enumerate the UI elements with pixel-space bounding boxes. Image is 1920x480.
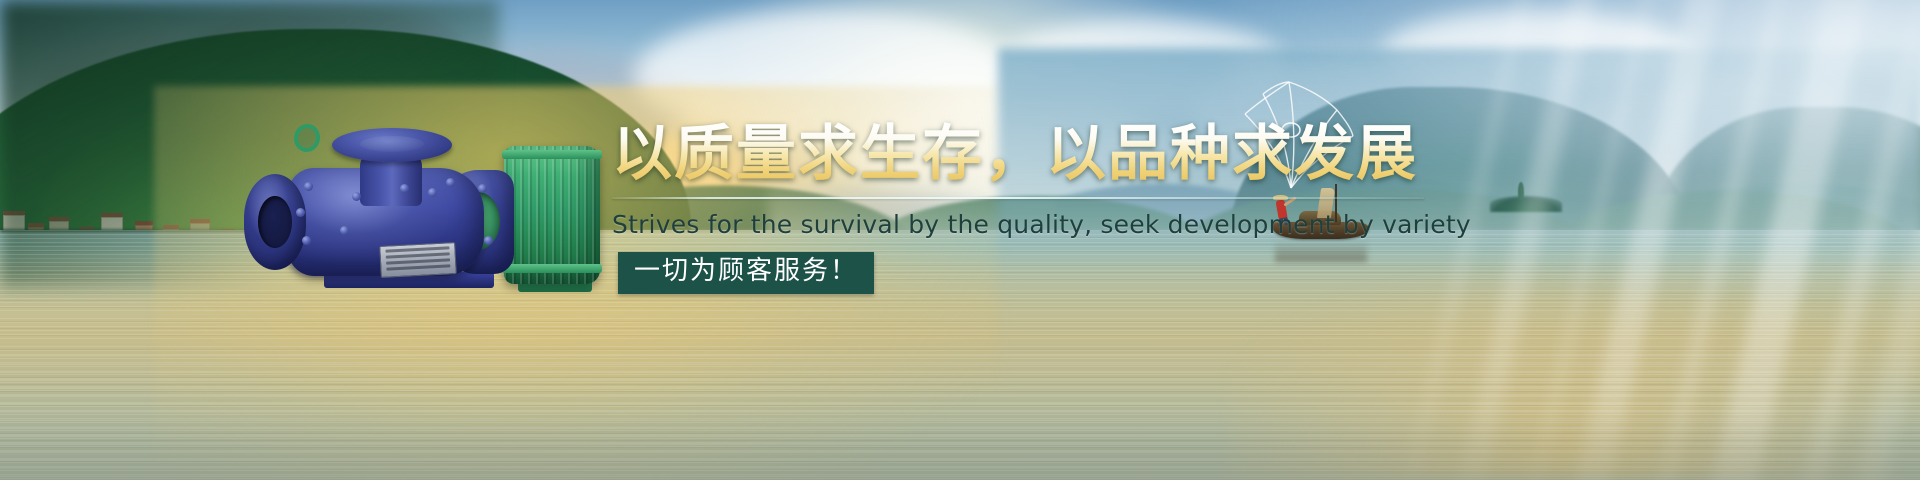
electric-motor — [504, 146, 600, 284]
headline-divider — [612, 197, 1424, 199]
pump-bolt-6 — [428, 188, 437, 197]
pump-bolt-1 — [296, 208, 305, 217]
motor-band-bottom — [502, 264, 602, 273]
slogan-text-block: 以质量求生存，以品种求发展 Strives for the survival b… — [612, 122, 1492, 294]
pump-suction-flange — [244, 174, 306, 270]
distant-island — [1490, 196, 1562, 212]
pump-nameplate — [379, 242, 457, 278]
pump-bolt-0 — [304, 182, 313, 191]
banner-subheadline: Strives for the survival by the quality,… — [612, 210, 1492, 239]
water-ripples-foreground — [0, 355, 1920, 480]
service-slogan-badge: 一切为顾客服务！ — [618, 252, 874, 294]
pump-bolt-2 — [302, 236, 311, 245]
motor-lifting-eye-icon — [291, 122, 322, 155]
distant-tree-icon — [1518, 182, 1524, 200]
pump-bolt-4 — [340, 226, 349, 235]
hero-banner[interactable]: 以质量求生存，以品种求发展 Strives for the survival b… — [0, 0, 1920, 480]
centrifugal-pump-product[interactable] — [232, 96, 592, 286]
pump-discharge-flange — [332, 128, 452, 162]
pump-bolt-3 — [352, 192, 361, 201]
pump-bolt-5 — [400, 184, 409, 193]
pump-bolt-7 — [446, 178, 455, 187]
motor-band-top — [502, 150, 602, 159]
pump-bolt-8 — [478, 184, 487, 193]
banner-headline: 以质量求生存，以品种求发展 — [612, 122, 1492, 187]
pump-bolt-9 — [484, 236, 493, 245]
